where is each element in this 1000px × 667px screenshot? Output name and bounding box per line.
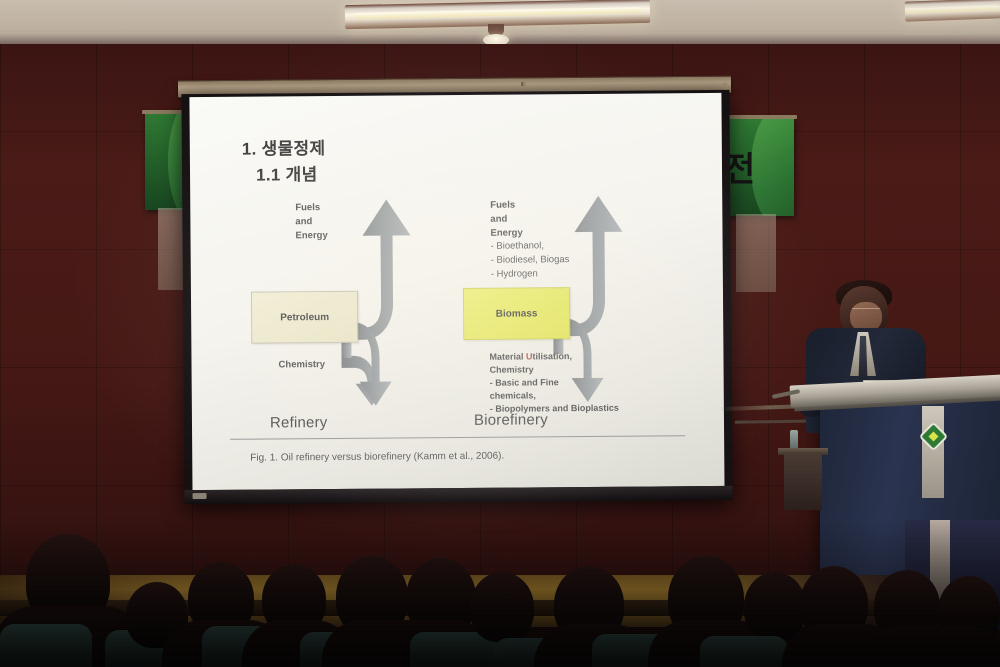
side-table: [784, 452, 822, 510]
banner-swoosh-shape: [751, 118, 794, 216]
auditorium-photo: 전 ◧ ▭ 1. 생물정제 1.1 개념 Fuels and Energy Fu…: [0, 0, 1000, 667]
ceiling-light-fixture-2: [905, 0, 1000, 22]
banner-right-tail: [736, 214, 776, 292]
audience: [0, 520, 1000, 667]
biomass-box: Biomass: [463, 287, 570, 340]
slide-title: 1. 생물정제: [242, 138, 326, 162]
slide-content: 1. 생물정제 1.1 개념 Fuels and Energy Fuels an…: [189, 93, 724, 490]
right-material-label: Material Utilisation, Chemistry - Basic …: [489, 350, 619, 416]
refinery-footer-label: Refinery: [270, 414, 328, 431]
seat-back: [700, 636, 788, 667]
left-fuels-label: Fuels and Energy: [295, 201, 328, 243]
figure-caption: Fig. 1. Oil refinery versus biorefinery …: [250, 451, 504, 464]
audience-shoulders: [860, 626, 1000, 667]
seat-back: [0, 624, 92, 667]
slide-subtitle: 1.1 개념: [256, 160, 318, 185]
fluorescent-tube: [354, 7, 641, 19]
screen-brand-mark-2: ▭: [723, 81, 727, 86]
footer-divider: [230, 435, 685, 440]
audience-head: [470, 572, 534, 642]
projection-screen-surface: 1. 생물정제 1.1 개념 Fuels and Energy Fuels an…: [189, 93, 724, 490]
water-bottle: [790, 430, 798, 450]
podium-front-pillar: [922, 406, 944, 498]
petroleum-box: Petroleum: [251, 291, 358, 344]
left-fuels-line-1: Fuels: [295, 201, 327, 215]
left-chemistry-label: Chemistry: [278, 359, 325, 370]
banner-right: 전: [722, 118, 794, 216]
right-material-item-2: chemicals,: [490, 389, 619, 403]
right-material-item-1: - Basic and Fine: [490, 376, 619, 390]
audience-head: [744, 572, 806, 640]
highlighted-u: U: [526, 351, 533, 361]
right-material-line-2: Chemistry: [490, 363, 619, 377]
projection-screen: 1. 생물정제 1.1 개념 Fuels and Energy Fuels an…: [181, 90, 732, 504]
banner-right-rod: [719, 115, 797, 119]
biomass-box-label: Biomass: [496, 308, 538, 319]
fluorescent-tube: [908, 5, 997, 13]
left-fuels-line-2: and: [295, 215, 327, 229]
left-fuels-line-3: Energy: [295, 229, 327, 243]
screen-pull-tab: [193, 493, 207, 499]
petroleum-box-label: Petroleum: [280, 312, 329, 323]
screen-brand-mark: ◧: [521, 81, 526, 87]
speaker-glasses-icon: [852, 308, 880, 315]
biorefinery-footer-label: Biorefinery: [474, 411, 548, 429]
right-material-line-1: Material Utilisation,: [489, 350, 618, 364]
